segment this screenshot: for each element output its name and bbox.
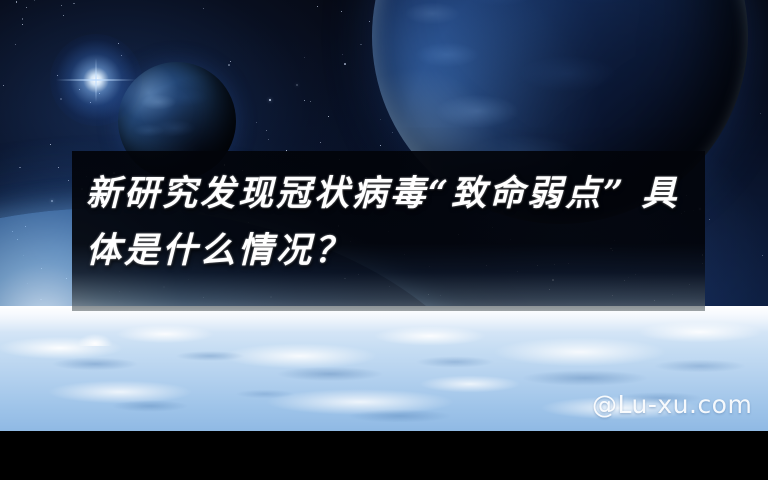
star: [3, 85, 4, 86]
star: [73, 3, 75, 5]
star: [228, 64, 230, 66]
bottom-letterbox: [0, 431, 768, 480]
star: [304, 57, 305, 58]
star: [380, 145, 381, 146]
star: [310, 101, 311, 102]
star: [380, 119, 381, 120]
star: [392, 132, 393, 133]
star: [709, 219, 710, 220]
star: [230, 61, 231, 62]
star: [269, 99, 271, 101]
watermark-text: @Lu-xu.com: [592, 390, 752, 419]
star: [26, 7, 27, 8]
star: [19, 167, 21, 169]
star-ray-vertical: [95, 58, 97, 102]
star: [342, 54, 343, 55]
star: [22, 24, 23, 25]
star: [51, 200, 53, 202]
cloud-peak-highlight: [78, 334, 112, 346]
star: [762, 255, 763, 256]
star: [203, 8, 204, 9]
star: [63, 15, 64, 16]
star: [68, 180, 69, 181]
star: [360, 44, 362, 46]
image-canvas: 新研究发现冠状病毒“致命弱点” 具体是什么情况？ @Lu-xu.com: [0, 0, 768, 480]
star: [15, 44, 16, 45]
star: [61, 5, 62, 6]
star: [34, 0, 35, 1]
star: [256, 122, 257, 123]
star: [22, 18, 24, 20]
star: [50, 144, 51, 145]
star: [320, 142, 321, 143]
star: [304, 100, 305, 101]
star: [344, 63, 346, 65]
star: [268, 139, 270, 141]
star: [296, 84, 298, 86]
headline-text: 新研究发现冠状病毒“致命弱点” 具体是什么情况？: [72, 151, 705, 311]
star: [341, 11, 342, 12]
star: [328, 116, 329, 117]
star: [760, 113, 761, 114]
star: [16, 1, 18, 3]
star: [266, 130, 267, 131]
star: [58, 167, 59, 168]
star: [369, 21, 370, 22]
star: [317, 6, 318, 7]
